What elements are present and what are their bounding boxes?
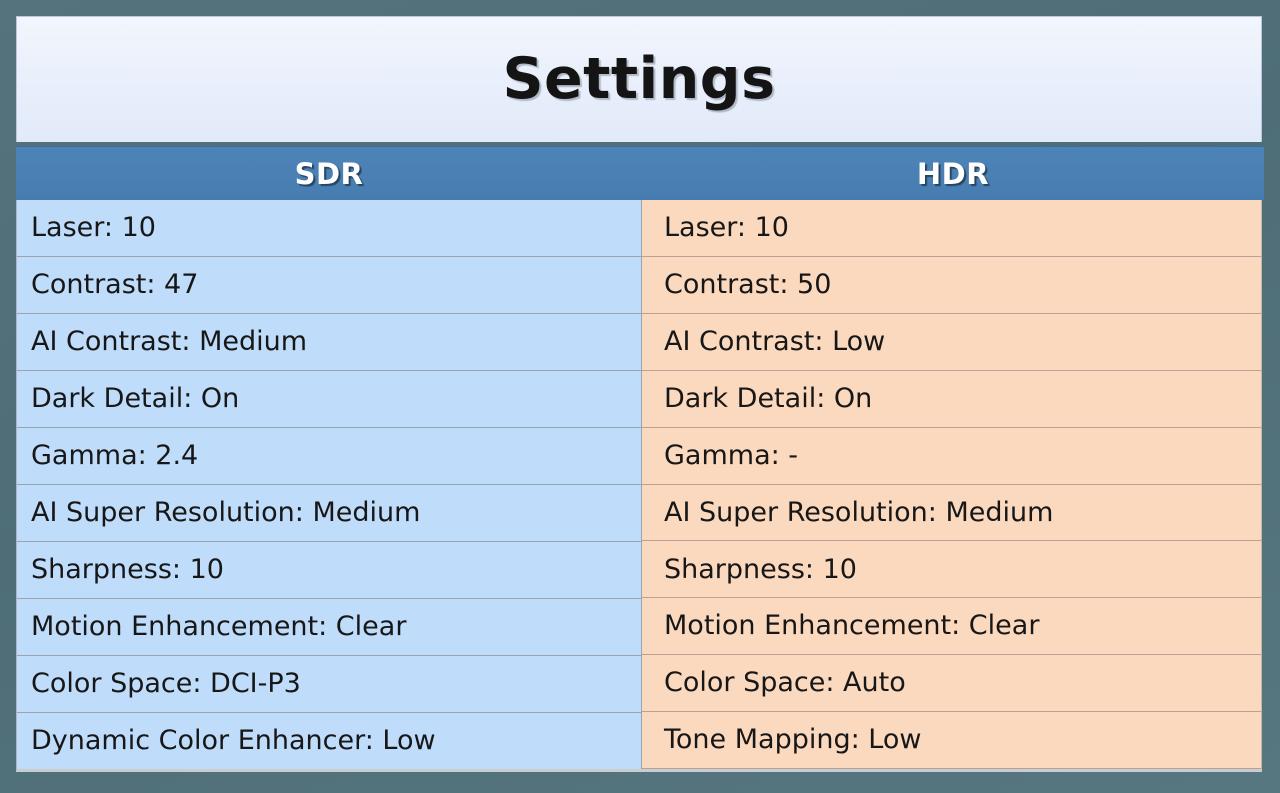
setting-item-label: Motion Enhancement: Clear xyxy=(664,611,1039,641)
setting-item-label: Gamma: 2.4 xyxy=(31,441,198,471)
setting-item-label: Dark Detail: On xyxy=(31,384,239,414)
setting-item-label: Gamma: - xyxy=(664,441,798,471)
setting-item-label: Laser: 10 xyxy=(31,213,156,243)
column-header-hdr-label: HDR xyxy=(917,157,989,191)
setting-item-label: Tone Mapping: Low xyxy=(664,725,921,755)
table-row: Sharpness: 10 xyxy=(642,541,1261,598)
title-panel: Settings xyxy=(16,16,1262,142)
table-row: Gamma: 2.4 xyxy=(17,428,641,485)
setting-item-label: Sharpness: 10 xyxy=(664,555,857,585)
setting-item-label: Contrast: 47 xyxy=(31,270,198,300)
page-title: Settings xyxy=(502,51,775,108)
table-row: Dark Detail: On xyxy=(17,371,641,428)
table-row: Laser: 10 xyxy=(642,200,1261,257)
table-row: AI Contrast: Low xyxy=(642,314,1261,371)
setting-item-label: AI Contrast: Low xyxy=(664,327,885,357)
table-row: Tone Mapping: Low xyxy=(642,712,1261,769)
settings-screen: Settings SDR HDR Laser: 10 Contrast: 47 … xyxy=(0,0,1280,793)
column-header-hdr: HDR xyxy=(642,147,1264,200)
table-row: AI Super Resolution: Medium xyxy=(17,485,641,542)
setting-item-label: Contrast: 50 xyxy=(664,270,831,300)
column-header-bar: SDR HDR xyxy=(16,146,1264,200)
table-row: Motion Enhancement: Clear xyxy=(17,599,641,656)
table-row: Dynamic Color Enhancer: Low xyxy=(17,713,641,769)
setting-item-label: Dynamic Color Enhancer: Low xyxy=(31,726,436,756)
setting-item-label: Color Space: Auto xyxy=(664,668,906,698)
setting-item-label: Laser: 10 xyxy=(664,213,789,243)
settings-table: Laser: 10 Contrast: 47 AI Contrast: Medi… xyxy=(16,200,1262,772)
column-header-sdr: SDR xyxy=(16,147,642,200)
table-row: Motion Enhancement: Clear xyxy=(642,598,1261,655)
table-row: Laser: 10 xyxy=(17,200,641,257)
table-row: Contrast: 47 xyxy=(17,257,641,314)
table-row: Gamma: - xyxy=(642,428,1261,485)
setting-item-label: Color Space: DCI-P3 xyxy=(31,669,301,699)
settings-column-hdr: Laser: 10 Contrast: 50 AI Contrast: Low … xyxy=(642,200,1261,769)
table-row: Sharpness: 10 xyxy=(17,542,641,599)
table-row: AI Contrast: Medium xyxy=(17,314,641,371)
table-row: Color Space: Auto xyxy=(642,655,1261,712)
setting-item-label: Dark Detail: On xyxy=(664,384,872,414)
table-row: Color Space: DCI-P3 xyxy=(17,656,641,713)
settings-column-sdr: Laser: 10 Contrast: 47 AI Contrast: Medi… xyxy=(17,200,642,769)
setting-item-label: AI Super Resolution: Medium xyxy=(664,498,1053,528)
setting-item-label: AI Super Resolution: Medium xyxy=(31,498,420,528)
table-row: Contrast: 50 xyxy=(642,257,1261,314)
setting-item-label: AI Contrast: Medium xyxy=(31,327,307,357)
setting-item-label: Motion Enhancement: Clear xyxy=(31,612,406,642)
setting-item-label: Sharpness: 10 xyxy=(31,555,224,585)
column-header-sdr-label: SDR xyxy=(295,157,364,191)
table-row: Dark Detail: On xyxy=(642,371,1261,428)
table-row: AI Super Resolution: Medium xyxy=(642,485,1261,542)
